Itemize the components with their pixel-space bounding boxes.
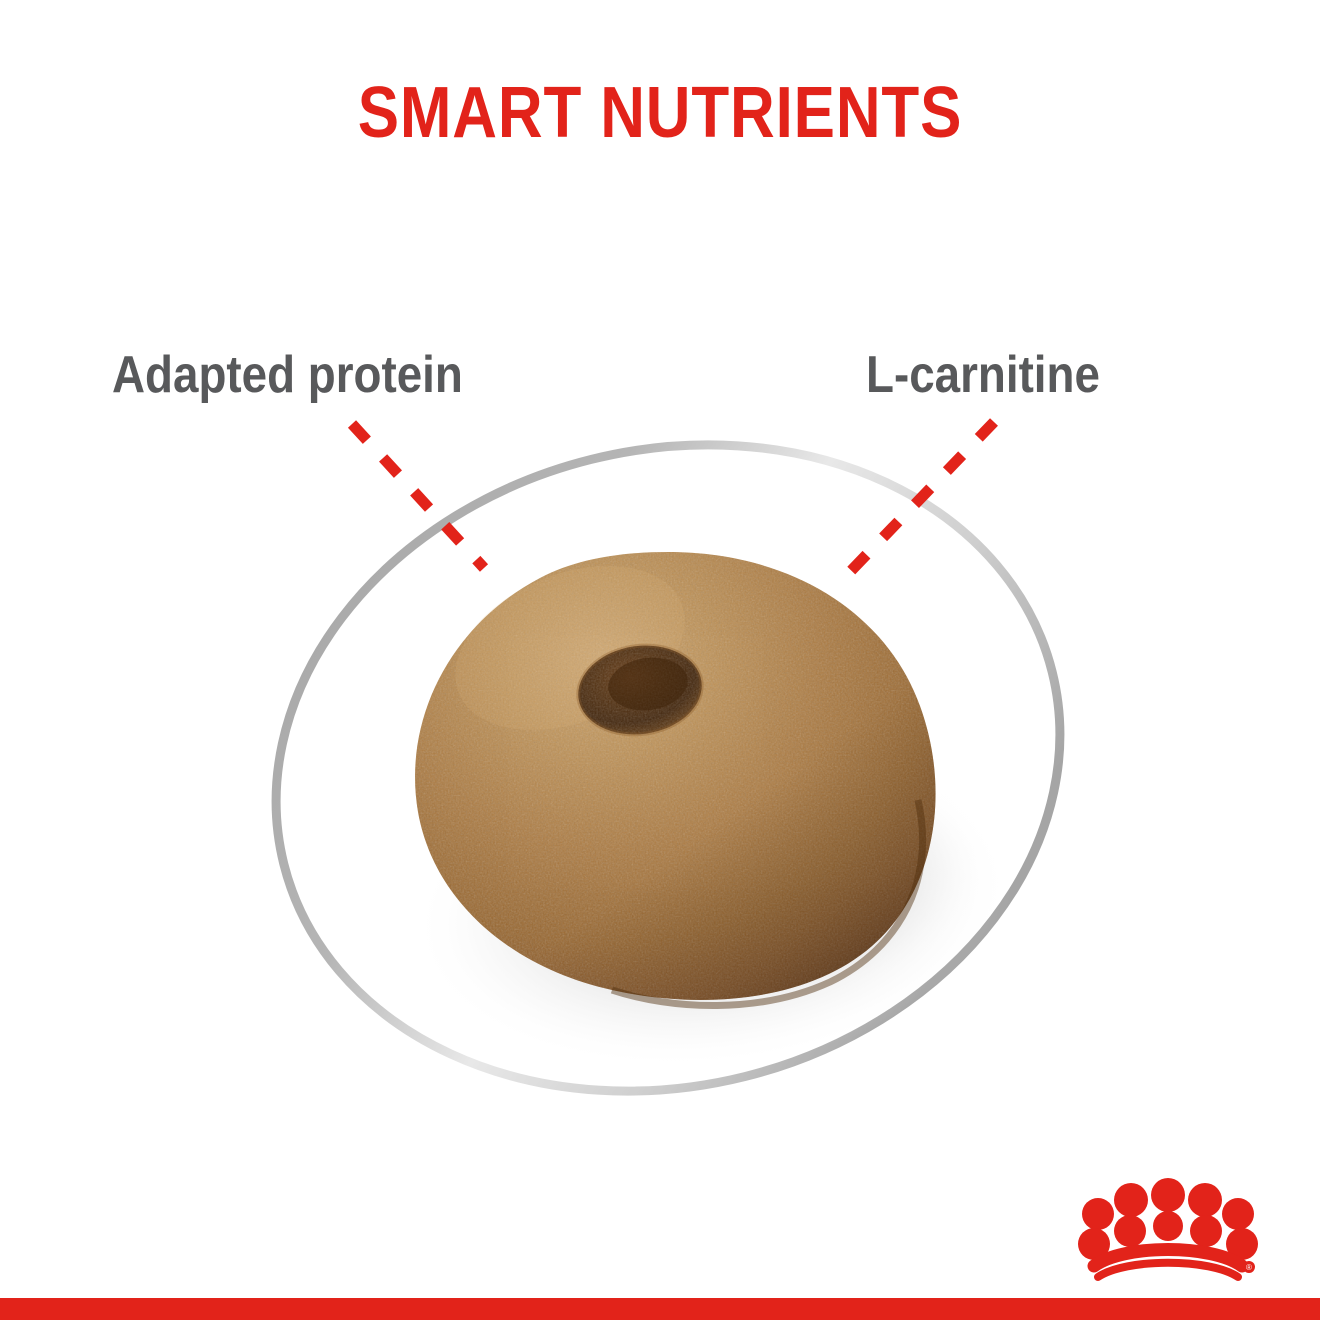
svg-text:®: ® [1246,1263,1252,1272]
callout-label-l-carnitine: L-carnitine [866,347,1100,403]
leader-line-l-carnitine [846,422,994,576]
royal-canin-crown-logo: ® [1068,1178,1268,1286]
crown-arcs [1094,1250,1242,1278]
callout-label-adapted-protein: Adapted protein [112,347,463,403]
footer-red-bar [0,1298,1320,1320]
kibble-illustration [0,0,1320,1320]
poster-canvas: SMART NUTRIENTS [0,0,1320,1320]
registered-trademark-symbol: ® [1243,1261,1255,1273]
